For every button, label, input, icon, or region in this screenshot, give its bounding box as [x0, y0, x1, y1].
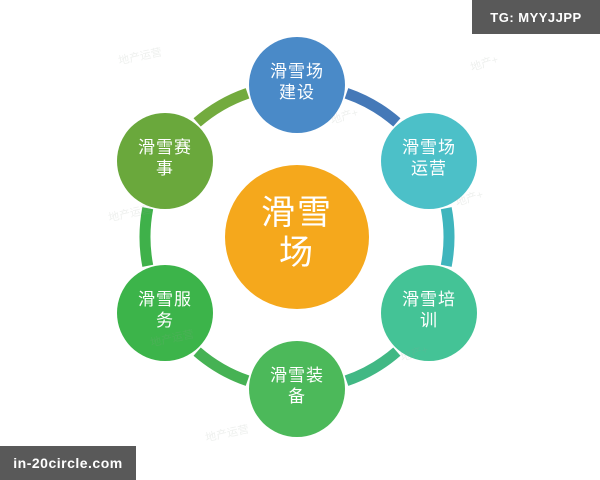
node-circle-equipment[interactable] [249, 341, 345, 437]
node-circle-group [117, 37, 477, 437]
site-watermark-badge: in-20circle.com [0, 446, 136, 480]
node-circle-construction[interactable] [249, 37, 345, 133]
node-circle-training[interactable] [381, 265, 477, 361]
hub-circle[interactable] [225, 165, 369, 309]
node-circle-events[interactable] [117, 113, 213, 209]
tg-badge: TG: MYYJJPP [472, 0, 600, 34]
arc-equipment-service [197, 352, 247, 381]
arc-service-events [145, 208, 148, 266]
node-circle-service[interactable] [117, 265, 213, 361]
arc-construction-operation [346, 93, 396, 122]
arc-operation-training [446, 208, 449, 266]
diagram-canvas: 滑雪 场 滑雪场 建设滑雪场 运营滑雪培 训滑雪装 备滑雪服 务滑雪赛 事 地产… [0, 0, 600, 480]
arc-training-equipment [346, 352, 396, 381]
arc-events-construction [197, 93, 247, 122]
node-circle-operation[interactable] [381, 113, 477, 209]
diagram-svg [0, 0, 600, 480]
